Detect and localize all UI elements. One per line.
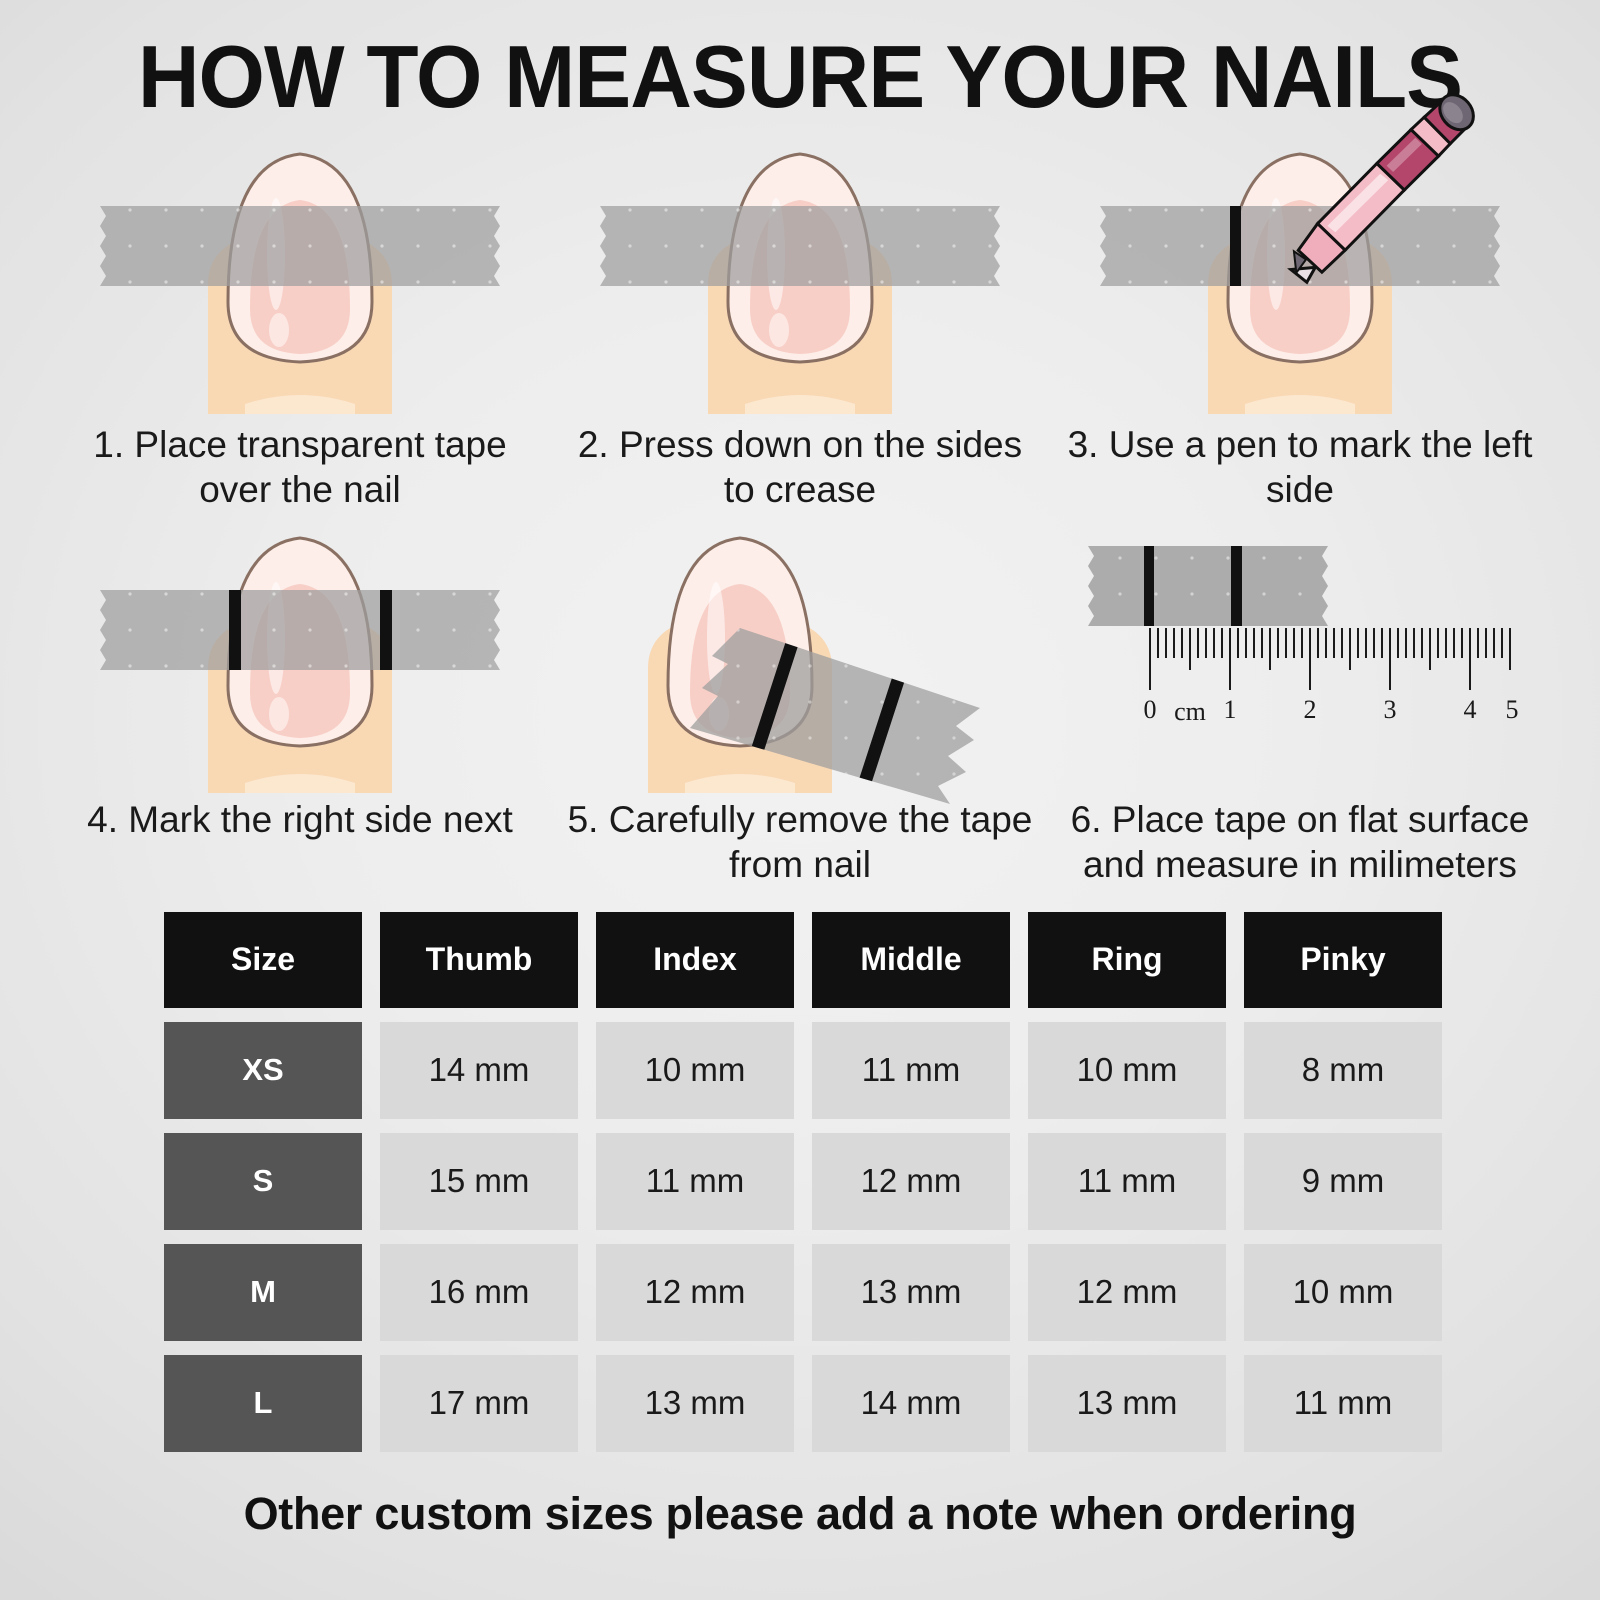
table-cell: 8 mm xyxy=(1244,1022,1442,1119)
table-cell: 10 mm xyxy=(1028,1022,1226,1119)
table-header-ring: Ring xyxy=(1028,912,1226,1008)
table-header-thumb: Thumb xyxy=(380,912,578,1008)
mark-left xyxy=(1144,546,1154,626)
tape-strip xyxy=(100,206,500,286)
size-chart-table: SizeThumbIndexMiddleRingPinkyXS14 mm10 m… xyxy=(164,912,1436,1452)
step-4: 4. Mark the right side next xyxy=(50,518,550,887)
ruler-tick-3: 3 xyxy=(1384,695,1397,724)
table-cell: 11 mm xyxy=(1028,1133,1226,1230)
ruler-unit-label: cm xyxy=(1174,697,1206,726)
mark-right xyxy=(1231,546,1242,626)
right-mark xyxy=(380,590,392,670)
table-cell: 12 mm xyxy=(1028,1244,1226,1341)
table-cell: 11 mm xyxy=(596,1133,794,1230)
table-cell: 16 mm xyxy=(380,1244,578,1341)
step-1: 1. Place transparent tape over the nail xyxy=(50,134,550,512)
table-header-size: Size xyxy=(164,912,362,1008)
step-5: 5. Carefully remove the tape from nail xyxy=(550,518,1050,887)
size-label-s: S xyxy=(164,1133,362,1230)
table-cell: 17 mm xyxy=(380,1355,578,1452)
table-cell: 13 mm xyxy=(1028,1355,1226,1452)
footer-note: Other custom sizes please add a note whe… xyxy=(0,1488,1600,1540)
step-5-figure xyxy=(550,518,1050,793)
table-cell: 13 mm xyxy=(812,1244,1010,1341)
left-mark xyxy=(229,590,241,670)
tape-strip-flat xyxy=(1088,546,1328,626)
step-4-caption: 4. Mark the right side next xyxy=(87,797,513,842)
table-cell: 14 mm xyxy=(380,1022,578,1119)
steps-row-2: 4. Mark the right side next xyxy=(50,512,1550,887)
step-3-figure xyxy=(1050,134,1550,414)
step-3-caption: 3. Use a pen to mark the left side xyxy=(1065,422,1535,512)
step-2: 2. Press down on the sides to crease xyxy=(550,134,1050,512)
table-header-middle: Middle xyxy=(812,912,1010,1008)
step-3: 3. Use a pen to mark the left side xyxy=(1050,134,1550,512)
table-cell: 11 mm xyxy=(1244,1355,1442,1452)
ruler-tick-0: 0 xyxy=(1144,695,1157,724)
table-cell: 11 mm xyxy=(812,1022,1010,1119)
ruler-tick-1: 1 xyxy=(1224,695,1237,724)
steps-row-1: 1. Place transparent tape over the nail xyxy=(50,128,1550,512)
table-cell: 14 mm xyxy=(812,1355,1010,1452)
page-title: HOW TO MEASURE YOUR NAILS xyxy=(24,0,1576,128)
step-5-caption: 5. Carefully remove the tape from nail xyxy=(565,797,1035,887)
step-1-caption: 1. Place transparent tape over the nail xyxy=(65,422,535,512)
table-cell: 12 mm xyxy=(596,1244,794,1341)
table-cell: 10 mm xyxy=(596,1022,794,1119)
size-label-l: L xyxy=(164,1355,362,1452)
tape-strip-creased xyxy=(600,206,1000,286)
step-6-caption: 6. Place tape on flat surface and measur… xyxy=(1065,797,1535,887)
table-cell: 15 mm xyxy=(380,1133,578,1230)
size-label-xs: XS xyxy=(164,1022,362,1119)
table-cell: 12 mm xyxy=(812,1133,1010,1230)
ruler-tick-5: 5 xyxy=(1506,695,1519,724)
step-4-figure xyxy=(50,518,550,793)
step-6-figure: 0 cm 1 2 3 4 5 xyxy=(1050,518,1550,793)
step-6: 0 cm 1 2 3 4 5 6. Place tape on flat sur… xyxy=(1050,518,1550,887)
tape-strip xyxy=(100,590,500,670)
step-1-figure xyxy=(50,134,550,414)
table-cell: 10 mm xyxy=(1244,1244,1442,1341)
left-mark xyxy=(1230,206,1241,286)
step-2-caption: 2. Press down on the sides to crease xyxy=(565,422,1035,512)
table-header-pinky: Pinky xyxy=(1244,912,1442,1008)
ruler xyxy=(1150,628,1510,690)
ruler-tick-4: 4 xyxy=(1464,695,1477,724)
step-2-figure xyxy=(550,134,1050,414)
table-header-index: Index xyxy=(596,912,794,1008)
table-cell: 9 mm xyxy=(1244,1133,1442,1230)
table-cell: 13 mm xyxy=(596,1355,794,1452)
size-label-m: M xyxy=(164,1244,362,1341)
ruler-tick-2: 2 xyxy=(1304,695,1317,724)
